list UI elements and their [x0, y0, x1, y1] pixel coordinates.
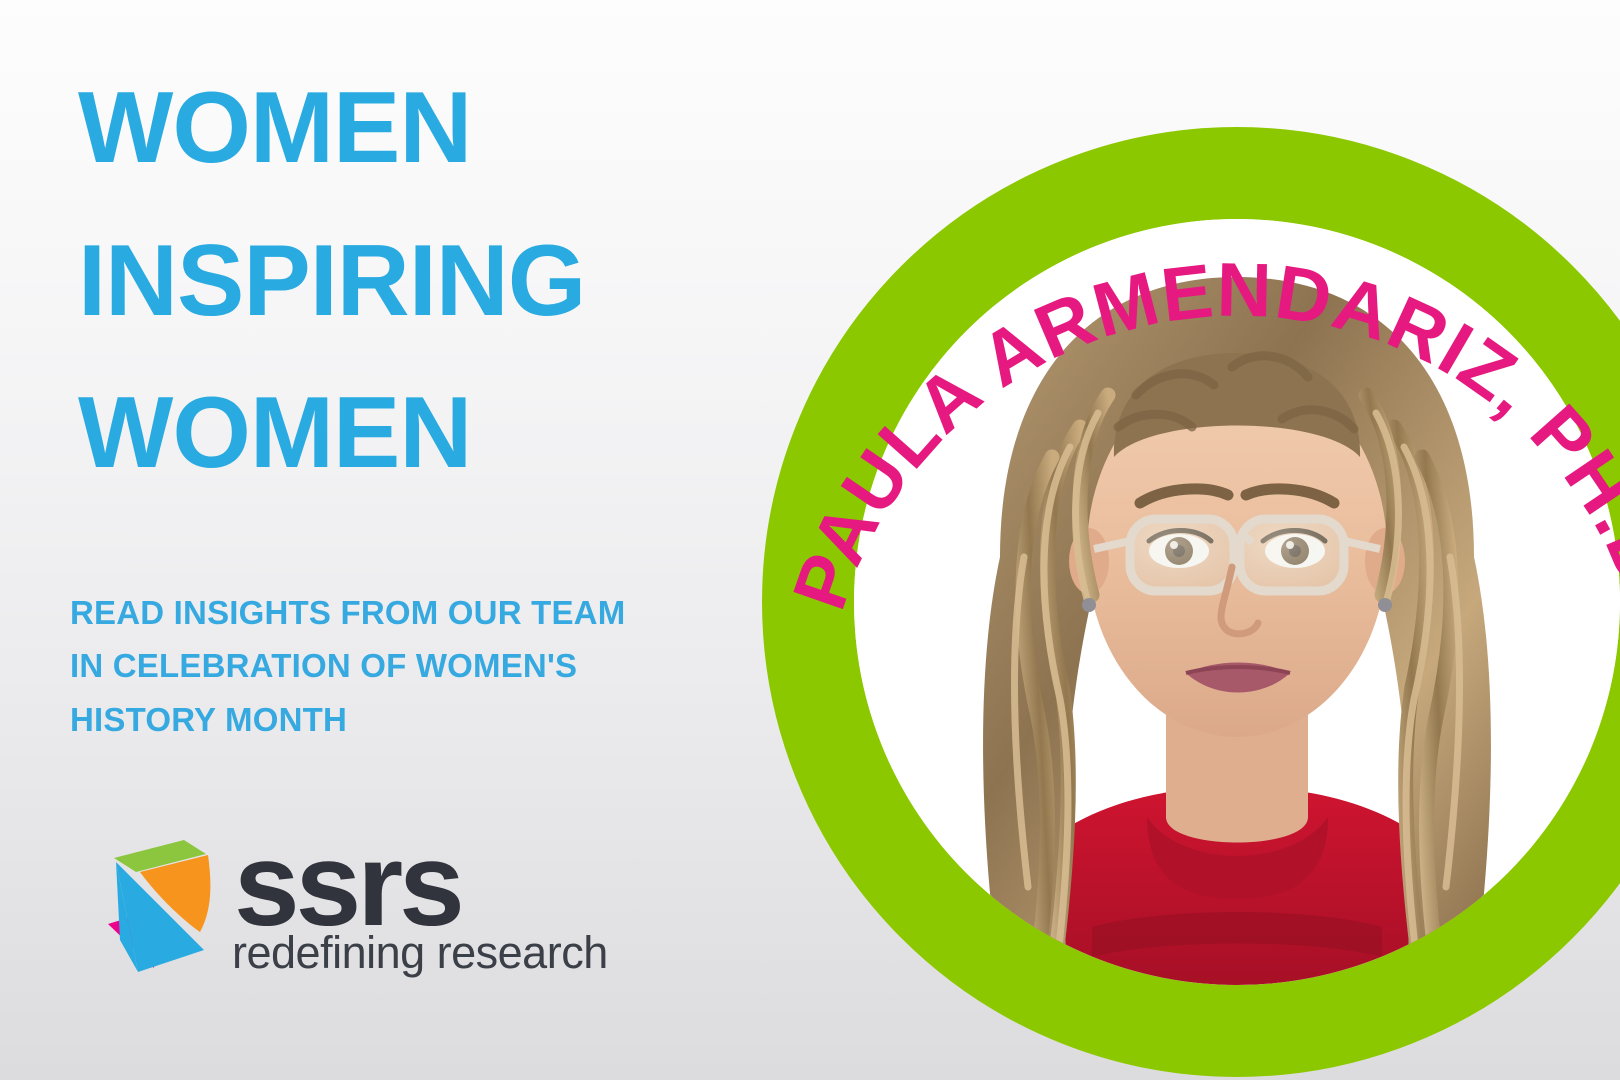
ssrs-logo: ssrs redefining research: [108, 832, 608, 982]
featured-person-badge: PAULA ARMENDARIZ, PH.D.: [762, 127, 1620, 1077]
ssrs-logo-mark-icon: [108, 832, 230, 972]
page-title: WOMEN INSPIRING WOMEN: [78, 52, 738, 510]
subheading: READ INSIGHTS FROM OUR TEAM IN CELEBRATI…: [70, 586, 730, 746]
poster-canvas: WOMEN INSPIRING WOMEN READ INSIGHTS FROM…: [0, 0, 1620, 1080]
ssrs-tagline: redefining research: [232, 930, 608, 975]
